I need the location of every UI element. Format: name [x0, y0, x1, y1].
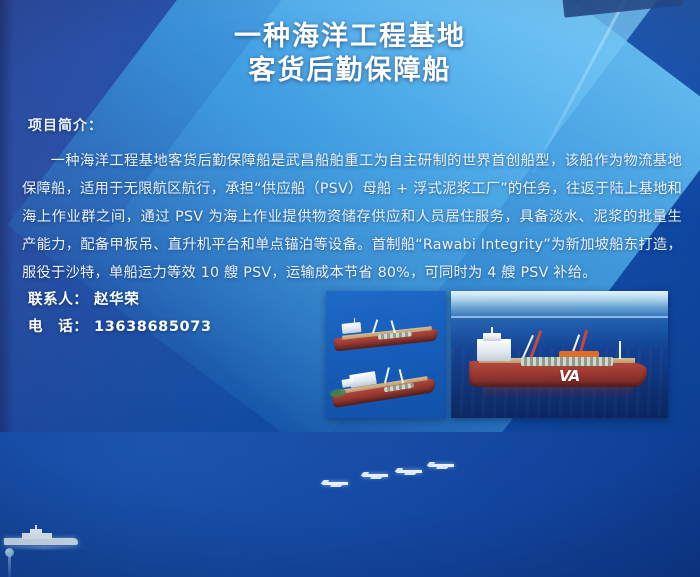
bow-mast — [619, 341, 621, 359]
ship-hull — [4, 538, 78, 545]
contact-person-row: 联系人： 赵华荣 — [28, 287, 212, 314]
section-label-intro: 项目简介： — [28, 115, 103, 135]
presentation-slide-photo: 一种海洋工程基地 客货后勤保障船 项目简介： 一种海洋工程基地客货后勤保障船是武… — [0, 0, 700, 577]
hull-logo-va: VA — [559, 367, 579, 385]
vessel-superstructure — [477, 339, 511, 361]
foreground-pole — [8, 552, 11, 577]
vessel-crane-left — [384, 367, 390, 383]
slide-title-line-2: 客货后勤保障船 — [0, 54, 700, 88]
vessel-rawabi-integrity: VA — [463, 327, 655, 397]
horizon-line — [451, 316, 668, 318]
hull-reflection — [483, 385, 633, 399]
photo-render-two-vessels — [326, 291, 446, 418]
deck-pipe-rack — [521, 357, 613, 366]
naval-ship-silhouette — [4, 527, 82, 551]
slide-title: 一种海洋工程基地 客货后勤保障船 — [0, 20, 700, 88]
slide-panel: 一种海洋工程基地 客货后勤保障船 项目简介： 一种海洋工程基地客货后勤保障船是武… — [0, 0, 700, 432]
intro-paragraph: 一种海洋工程基地客货后勤保障船是武昌船舶重工为自主研制的世界首创船型，该船作为物… — [22, 147, 682, 287]
contact-phone-row: 电 话： 13638685073 — [28, 314, 212, 341]
vessel-render-lower — [328, 365, 440, 407]
vessel-mast — [491, 327, 493, 335]
corner-dark-shape — [558, 0, 684, 18]
vessel-render-upper — [332, 317, 440, 353]
contact-block: 联系人： 赵华荣 电 话： 13638685073 — [28, 287, 212, 341]
sky-glow — [451, 291, 668, 319]
vessel-superstructure — [342, 322, 362, 334]
slide-title-line-1: 一种海洋工程基地 — [0, 20, 700, 54]
ship-mast — [35, 525, 37, 530]
vessel-mast — [354, 318, 355, 325]
photo-ship-at-sea: VA — [451, 291, 668, 418]
